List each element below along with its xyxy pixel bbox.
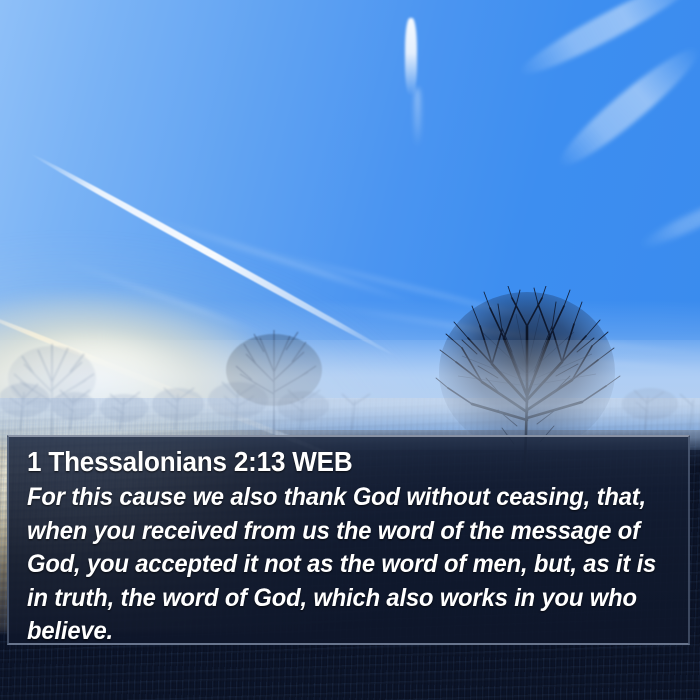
left-misty-tree	[0, 330, 114, 440]
verse-text: For this cause we also thank God without…	[27, 481, 672, 645]
secondary-misty-tree	[214, 318, 334, 438]
contrail-vertical-plume	[405, 18, 417, 96]
verse-overlay-box: 1 Thessalonians 2:13 WEB For this cause …	[7, 435, 690, 645]
verse-reference: 1 Thessalonians 2:13 WEB	[27, 444, 629, 480]
verse-image-scene: 1 Thessalonians 2:13 WEB For this cause …	[0, 0, 700, 700]
contrail-vertical-tail	[414, 88, 421, 148]
